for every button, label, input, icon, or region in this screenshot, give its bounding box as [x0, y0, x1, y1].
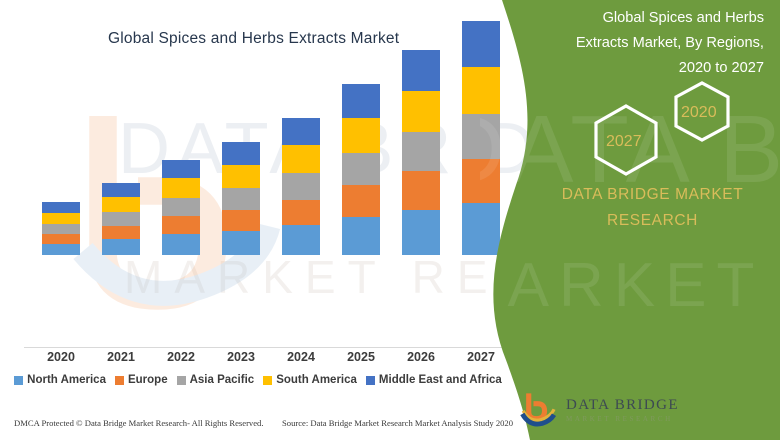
legend-item-asia-pacific[interactable]: Asia Pacific	[177, 374, 255, 386]
chart-legend: North AmericaEuropeAsia PacificSouth Ame…	[0, 374, 516, 386]
x-axis-label-2020: 2020	[31, 350, 91, 364]
green-panel-title-line1: Global Spices and Herbs	[514, 6, 764, 31]
chart-axis-line	[24, 347, 516, 348]
bar-segment-2024-asia-pacific[interactable]	[282, 173, 320, 199]
legend-label: Asia Pacific	[190, 374, 255, 386]
x-axis-label-2021: 2021	[91, 350, 151, 364]
bar-segment-2025-north-america[interactable]	[342, 217, 380, 255]
bar-segment-2021-south-america[interactable]	[102, 197, 140, 212]
bar-segment-2023-asia-pacific[interactable]	[222, 188, 260, 210]
legend-swatch-icon	[263, 376, 272, 385]
bar-segment-2026-asia-pacific[interactable]	[402, 132, 440, 171]
bar-segment-2024-europe[interactable]	[282, 200, 320, 225]
legend-swatch-icon	[115, 376, 124, 385]
bar-segment-2020-asia-pacific[interactable]	[42, 224, 80, 234]
legend-item-europe[interactable]: Europe	[115, 374, 168, 386]
legend-label: Europe	[128, 374, 168, 386]
bar-segment-2026-middle-east-and-africa[interactable]	[402, 50, 440, 90]
chart-bar-2026[interactable]	[402, 50, 440, 255]
hexagon-2027-label: 2027	[606, 133, 642, 151]
bar-segment-2022-middle-east-and-africa[interactable]	[162, 160, 200, 178]
bar-segment-2022-north-america[interactable]	[162, 234, 200, 255]
legend-swatch-icon	[14, 376, 23, 385]
green-side-panel: DATA BRIDGE MARKET RESEARCH Global Spice…	[480, 0, 780, 440]
chart-bar-2025[interactable]	[342, 84, 380, 255]
hexagon-2020-label: 2020	[681, 104, 717, 122]
green-panel-title: Global Spices and Herbs Extracts Market,…	[514, 6, 764, 81]
bar-segment-2025-middle-east-and-africa[interactable]	[342, 84, 380, 118]
bar-segment-2021-north-america[interactable]	[102, 239, 140, 255]
logo-subtitle: MARKET RESEARCH	[566, 416, 679, 423]
x-axis-label-2023: 2023	[211, 350, 271, 364]
data-bridge-logo-text: DATA BRIDGE MARKET RESEARCH	[566, 398, 679, 423]
bar-segment-2024-south-america[interactable]	[282, 145, 320, 173]
bar-segment-2024-middle-east-and-africa[interactable]	[282, 118, 320, 145]
bar-segment-2023-south-america[interactable]	[222, 165, 260, 188]
footer-copyright: DMCA Protected © Data Bridge Market Rese…	[14, 418, 264, 428]
footer-source: Source: Data Bridge Market Research Mark…	[282, 418, 513, 428]
logo-title: DATA BRIDGE	[566, 398, 679, 413]
chart-bar-2024[interactable]	[282, 118, 320, 255]
x-axis-label-2025: 2025	[331, 350, 391, 364]
bar-segment-2023-north-america[interactable]	[222, 231, 260, 255]
chart-bar-2020[interactable]	[42, 202, 80, 255]
bar-segment-2026-south-america[interactable]	[402, 91, 440, 132]
bar-segment-2020-south-america[interactable]	[42, 213, 80, 224]
bar-segment-2023-middle-east-and-africa[interactable]	[222, 142, 260, 165]
x-axis-label-2026: 2026	[391, 350, 451, 364]
bar-segment-2021-europe[interactable]	[102, 226, 140, 239]
bar-segment-2020-north-america[interactable]	[42, 244, 80, 255]
x-axis-label-2022: 2022	[151, 350, 211, 364]
bar-segment-2026-north-america[interactable]	[402, 210, 440, 255]
bar-segment-2021-asia-pacific[interactable]	[102, 212, 140, 226]
brand-line1: DATA BRIDGE MARKET	[540, 182, 765, 208]
legend-label: South America	[276, 374, 357, 386]
legend-swatch-icon	[177, 376, 186, 385]
green-panel-watermark-line2: MARKET RESEARCH	[480, 250, 780, 321]
data-bridge-logo: DATA BRIDGE MARKET RESEARCH	[519, 388, 734, 432]
green-panel-title-line3: 2020 to 2027	[514, 56, 764, 81]
x-axis-label-2024: 2024	[271, 350, 331, 364]
chart-bars-area	[0, 0, 516, 348]
chart-bar-2022[interactable]	[162, 160, 200, 255]
bar-segment-2022-asia-pacific[interactable]	[162, 198, 200, 217]
bar-segment-2025-europe[interactable]	[342, 185, 380, 217]
bar-segment-2025-asia-pacific[interactable]	[342, 153, 380, 186]
data-bridge-logo-icon	[519, 391, 559, 429]
chart-bar-2023[interactable]	[222, 142, 260, 255]
footer: DMCA Protected © Data Bridge Market Rese…	[0, 418, 520, 436]
bar-segment-2022-south-america[interactable]	[162, 178, 200, 198]
bar-segment-2025-south-america[interactable]	[342, 118, 380, 153]
green-panel-title-line2: Extracts Market, By Regions,	[514, 31, 764, 56]
bar-segment-2021-middle-east-and-africa[interactable]	[102, 183, 140, 197]
brand-line2: RESEARCH	[540, 208, 765, 234]
legend-label: North America	[27, 374, 106, 386]
legend-item-north-america[interactable]: North America	[14, 374, 106, 386]
legend-item-south-america[interactable]: South America	[263, 374, 357, 386]
infographic-root: DATA BRIDGE MARKET RESEARCH Global Spice…	[0, 0, 780, 440]
chart-x-axis-labels: 20202021202220232024202520262027	[0, 350, 516, 370]
green-panel-brand: DATA BRIDGE MARKET RESEARCH	[540, 182, 765, 234]
bar-segment-2023-europe[interactable]	[222, 210, 260, 231]
legend-swatch-icon	[366, 376, 375, 385]
bar-segment-2020-middle-east-and-africa[interactable]	[42, 202, 80, 212]
bar-segment-2022-europe[interactable]	[162, 216, 200, 234]
bar-segment-2024-north-america[interactable]	[282, 225, 320, 255]
bar-segment-2020-europe[interactable]	[42, 234, 80, 243]
chart-bar-2021[interactable]	[102, 183, 140, 255]
bar-segment-2026-europe[interactable]	[402, 171, 440, 210]
